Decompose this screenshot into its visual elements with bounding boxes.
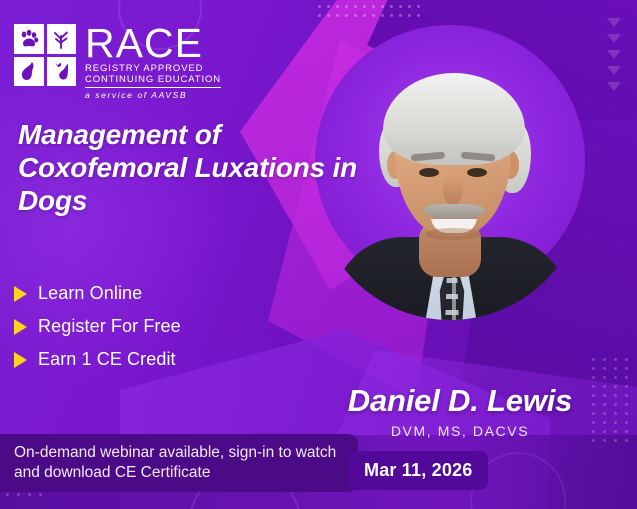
chevron-down-icon	[607, 34, 621, 43]
dot	[614, 367, 617, 370]
dot	[592, 385, 595, 388]
portrait-eye-left	[419, 168, 439, 177]
dot	[625, 403, 628, 406]
dot	[390, 5, 393, 8]
triangle-bullet-icon	[14, 286, 27, 302]
dot	[381, 5, 384, 8]
race-logo: RACE REGISTRY APPROVED CONTINUING EDUCAT…	[14, 24, 221, 101]
dot	[408, 5, 411, 8]
dot	[614, 421, 617, 424]
list-item-label: Earn 1 CE Credit	[38, 349, 176, 370]
dot	[592, 430, 595, 433]
dot	[614, 394, 617, 397]
dot	[614, 430, 617, 433]
date-badge: Mar 11, 2026	[348, 451, 488, 490]
race-wordmark: RACE	[85, 25, 221, 63]
list-item: Register For Free	[14, 316, 181, 337]
list-item-label: Register For Free	[38, 316, 181, 337]
dot	[603, 430, 606, 433]
dot	[363, 5, 366, 8]
chevron-down-icon	[607, 18, 621, 27]
triangle-bullet-icon	[14, 319, 27, 335]
chevron-down-icon	[607, 66, 621, 75]
dot	[336, 5, 339, 8]
paw-print-icon	[14, 24, 44, 54]
page-title: Management of Coxofemoral Luxations in D…	[18, 118, 358, 217]
race-logo-divider	[85, 87, 221, 88]
dot	[592, 412, 595, 415]
dot	[354, 14, 357, 17]
race-tagline-line3: a service of AAVSB	[85, 90, 221, 101]
chevron-down-icon	[607, 50, 621, 59]
dot	[625, 430, 628, 433]
dot	[625, 376, 628, 379]
speaker-credentials: DVM, MS, DACVS	[330, 423, 590, 439]
portrait-chin-shadow	[425, 228, 483, 240]
dot	[592, 367, 595, 370]
dot	[372, 5, 375, 8]
benefit-list: Learn Online Register For Free Earn 1 CE…	[14, 283, 181, 382]
dot	[592, 358, 595, 361]
availability-caption: On-demand webinar available, sign-in to …	[0, 434, 358, 492]
race-tagline-line1: REGISTRY APPROVED	[85, 63, 221, 74]
dot	[592, 421, 595, 424]
dot	[345, 14, 348, 17]
dot	[614, 376, 617, 379]
dot	[603, 385, 606, 388]
dot	[381, 14, 384, 17]
dot	[6, 493, 9, 496]
race-logo-mark	[14, 24, 76, 86]
dot	[318, 5, 321, 8]
dot	[614, 439, 617, 442]
dot	[28, 493, 31, 496]
dot	[603, 367, 606, 370]
cat-head-icon	[47, 57, 77, 87]
dot	[417, 5, 420, 8]
dot	[603, 358, 606, 361]
dot	[592, 376, 595, 379]
chevron-down-icon	[607, 82, 621, 91]
dot	[372, 14, 375, 17]
dot	[39, 493, 42, 496]
dot	[625, 412, 628, 415]
dot	[625, 358, 628, 361]
race-tagline-line2: CONTINUING EDUCATION	[85, 74, 221, 85]
dot	[603, 394, 606, 397]
dot	[17, 493, 20, 496]
list-item: Learn Online	[14, 283, 181, 304]
dot	[603, 421, 606, 424]
dot	[390, 14, 393, 17]
race-logo-text: RACE REGISTRY APPROVED CONTINUING EDUCAT…	[85, 24, 221, 101]
list-item: Earn 1 CE Credit	[14, 349, 181, 370]
dot	[336, 14, 339, 17]
dot	[603, 412, 606, 415]
dot	[592, 403, 595, 406]
dot	[603, 439, 606, 442]
dot	[614, 412, 617, 415]
dot	[345, 5, 348, 8]
dot	[603, 403, 606, 406]
dot	[625, 367, 628, 370]
speaker-name: Daniel D. Lewis	[330, 385, 590, 418]
dot	[417, 14, 420, 17]
triangle-bullet-icon	[14, 352, 27, 368]
dot	[592, 394, 595, 397]
dot	[318, 14, 321, 17]
dot	[614, 385, 617, 388]
dot	[327, 5, 330, 8]
list-item-label: Learn Online	[38, 283, 142, 304]
horse-head-icon	[14, 57, 44, 87]
dot	[354, 5, 357, 8]
dot	[408, 14, 411, 17]
bird-icon	[47, 24, 77, 54]
chevron-down-icon-column	[607, 18, 621, 98]
dot	[625, 439, 628, 442]
dot	[327, 14, 330, 17]
portrait-hair	[383, 73, 525, 165]
portrait-eye-right	[467, 168, 487, 177]
dot	[399, 14, 402, 17]
dot	[592, 439, 595, 442]
portrait-nose	[443, 177, 463, 205]
dot	[399, 5, 402, 8]
dot	[614, 403, 617, 406]
dot	[625, 385, 628, 388]
webinar-promo-poster: RACE REGISTRY APPROVED CONTINUING EDUCAT…	[0, 0, 637, 509]
dot	[603, 376, 606, 379]
dot	[363, 14, 366, 17]
dot	[625, 421, 628, 424]
dot	[625, 394, 628, 397]
dot	[614, 358, 617, 361]
speaker-info: Daniel D. Lewis DVM, MS, DACVS	[330, 385, 590, 439]
portrait-mustache	[423, 204, 485, 218]
